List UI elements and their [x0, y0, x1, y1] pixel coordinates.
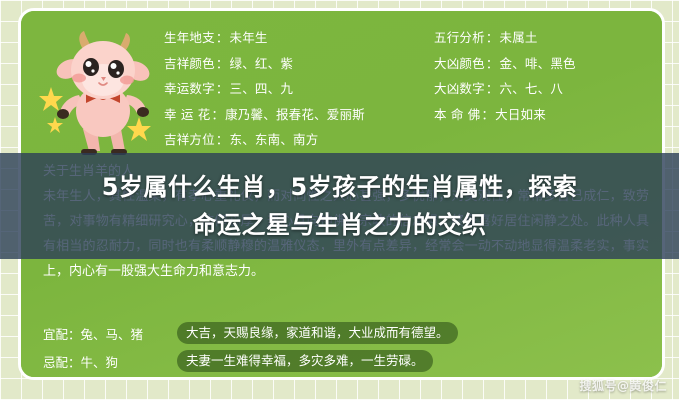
- attributes-left-column: 生年地支：未年生 吉祥颜色：绿、红、紫 幸运数字：三、四、九 幸 运 花：康乃馨…: [164, 25, 365, 153]
- attribute-separator: ：: [215, 132, 230, 147]
- screenshot-root: 生年地支：未年生 吉祥颜色：绿、红、紫 幸运数字：三、四、九 幸 运 花：康乃馨…: [0, 0, 679, 400]
- attribute-separator: ：: [485, 30, 500, 45]
- watermark: 搜狐号@黄俊仁: [579, 377, 667, 394]
- attribute-label: 本 命 佛: [434, 107, 480, 122]
- attribute-row: 吉祥方位：东、东南、南方: [164, 127, 365, 153]
- attribute-separator: ：: [485, 81, 500, 96]
- compatibility-label: 宜配：兔、马、猪: [43, 324, 177, 343]
- attribute-value: 康乃馨、报春花、爱丽斯: [225, 107, 365, 122]
- compatibility-row-unfavorable: 忌配：牛、狗 夫妻一生难得幸福，多灾多难，一生劳碌。: [43, 349, 649, 373]
- attribute-label: 幸 运 花: [164, 107, 210, 122]
- compatibility-description-pill: 大吉，天赐良缘，家道和谐，大业成而有德望。: [177, 322, 458, 344]
- attribute-separator: ：: [215, 56, 230, 71]
- goat-mascot-icon: [39, 25, 159, 161]
- overlay-title: 5岁属什么生肖，5岁孩子的生肖属性，探索 命运之星与生肖之力的交织: [0, 153, 679, 259]
- attribute-separator: ：: [215, 81, 230, 96]
- attribute-separator: ：: [480, 107, 495, 122]
- attributes-right-column: 五行分析：未属土 大凶颜色：金、啡、黑色 大凶数字：六、七、八 本 命 佛：大日…: [434, 25, 576, 127]
- attribute-separator: ：: [215, 30, 230, 45]
- attribute-value: 六、七、八: [500, 81, 564, 96]
- attribute-label: 大凶数字: [434, 81, 485, 96]
- attribute-label: 五行分析: [434, 30, 485, 45]
- attribute-row: 大凶数字：六、七、八: [434, 76, 576, 102]
- attribute-row: 吉祥颜色：绿、红、紫: [164, 51, 365, 77]
- attribute-row: 五行分析：未属土: [434, 25, 576, 51]
- attribute-row: 幸 运 花：康乃馨、报春花、爱丽斯: [164, 102, 365, 128]
- overlay-title-line-1: 5岁属什么生肖，5岁孩子的生肖属性，探索: [102, 168, 577, 206]
- attribute-value: 金、啡、黑色: [500, 56, 576, 71]
- attribute-label: 生年地支: [164, 30, 215, 45]
- attribute-row: 本 命 佛：大日如来: [434, 102, 576, 128]
- attribute-row: 幸运数字：三、四、九: [164, 76, 365, 102]
- attribute-value: 绿、红、紫: [230, 56, 294, 71]
- attribute-value: 大日如来: [495, 107, 546, 122]
- attribute-row: 生年地支：未年生: [164, 25, 365, 51]
- attribute-value: 三、四、九: [230, 81, 294, 96]
- compatibility-section: 宜配：兔、马、猪 大吉，天赐良缘，家道和谐，大业成而有德望。 忌配：牛、狗 夫妻…: [43, 321, 649, 377]
- overlay-title-line-2: 命运之星与生肖之力的交织: [193, 206, 487, 244]
- attribute-label: 吉祥方位: [164, 132, 215, 147]
- attribute-value: 东、东南、南方: [230, 132, 319, 147]
- compatibility-description-pill: 夫妻一生难得幸福，多灾多难，一生劳碌。: [177, 350, 433, 372]
- attribute-value: 未年生: [230, 30, 268, 45]
- compatibility-row-favorable: 宜配：兔、马、猪 大吉，天赐良缘，家道和谐，大业成而有德望。: [43, 321, 649, 345]
- attribute-separator: ：: [485, 56, 500, 71]
- attribute-label: 大凶颜色: [434, 56, 485, 71]
- attribute-value: 未属土: [500, 30, 538, 45]
- attribute-separator: ：: [210, 107, 225, 122]
- attribute-row: 大凶颜色：金、啡、黑色: [434, 51, 576, 77]
- attribute-label: 吉祥颜色: [164, 56, 215, 71]
- attribute-label: 幸运数字: [164, 81, 215, 96]
- compatibility-label: 忌配：牛、狗: [43, 352, 177, 371]
